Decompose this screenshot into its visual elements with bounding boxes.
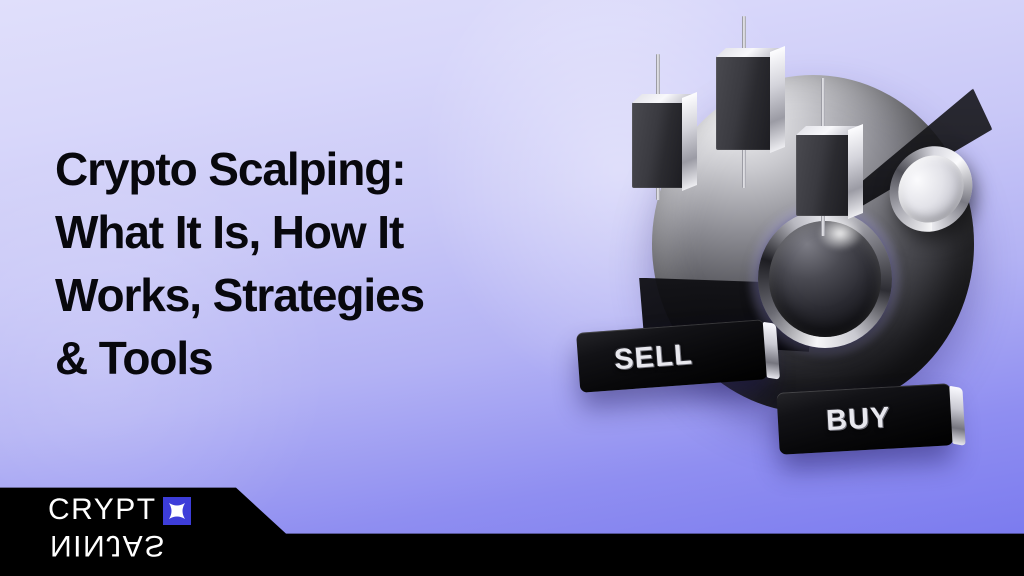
candlestick-group (618, 30, 838, 220)
candlestick-1 (632, 88, 684, 198)
candle-body (716, 56, 772, 150)
logo-text-ninjas: NINJAS (50, 530, 166, 560)
candlestick-2 (716, 38, 772, 166)
candle-body (796, 134, 850, 216)
center-dial[interactable] (758, 210, 892, 348)
candle-body (632, 102, 684, 188)
logo-line-top: CRYPT (48, 495, 191, 525)
buy-button[interactable]: BUY (776, 383, 953, 455)
ninja-star-icon (163, 497, 191, 525)
logo-text-crypt: CRYPT (48, 495, 157, 525)
article-banner: Crypto Scalping: What It Is, How It Work… (0, 0, 1024, 576)
candlestick-3 (796, 122, 850, 226)
sell-button-label: SELL (613, 338, 694, 377)
hero-illustration: SELL BUY (560, 20, 1024, 490)
brand-logo[interactable]: CRYPT NINJAS (48, 495, 191, 560)
footer-bar: CRYPT NINJAS (0, 484, 1024, 576)
buy-button-label: BUY (825, 401, 892, 438)
page-title: Crypto Scalping: What It Is, How It Work… (55, 138, 555, 390)
